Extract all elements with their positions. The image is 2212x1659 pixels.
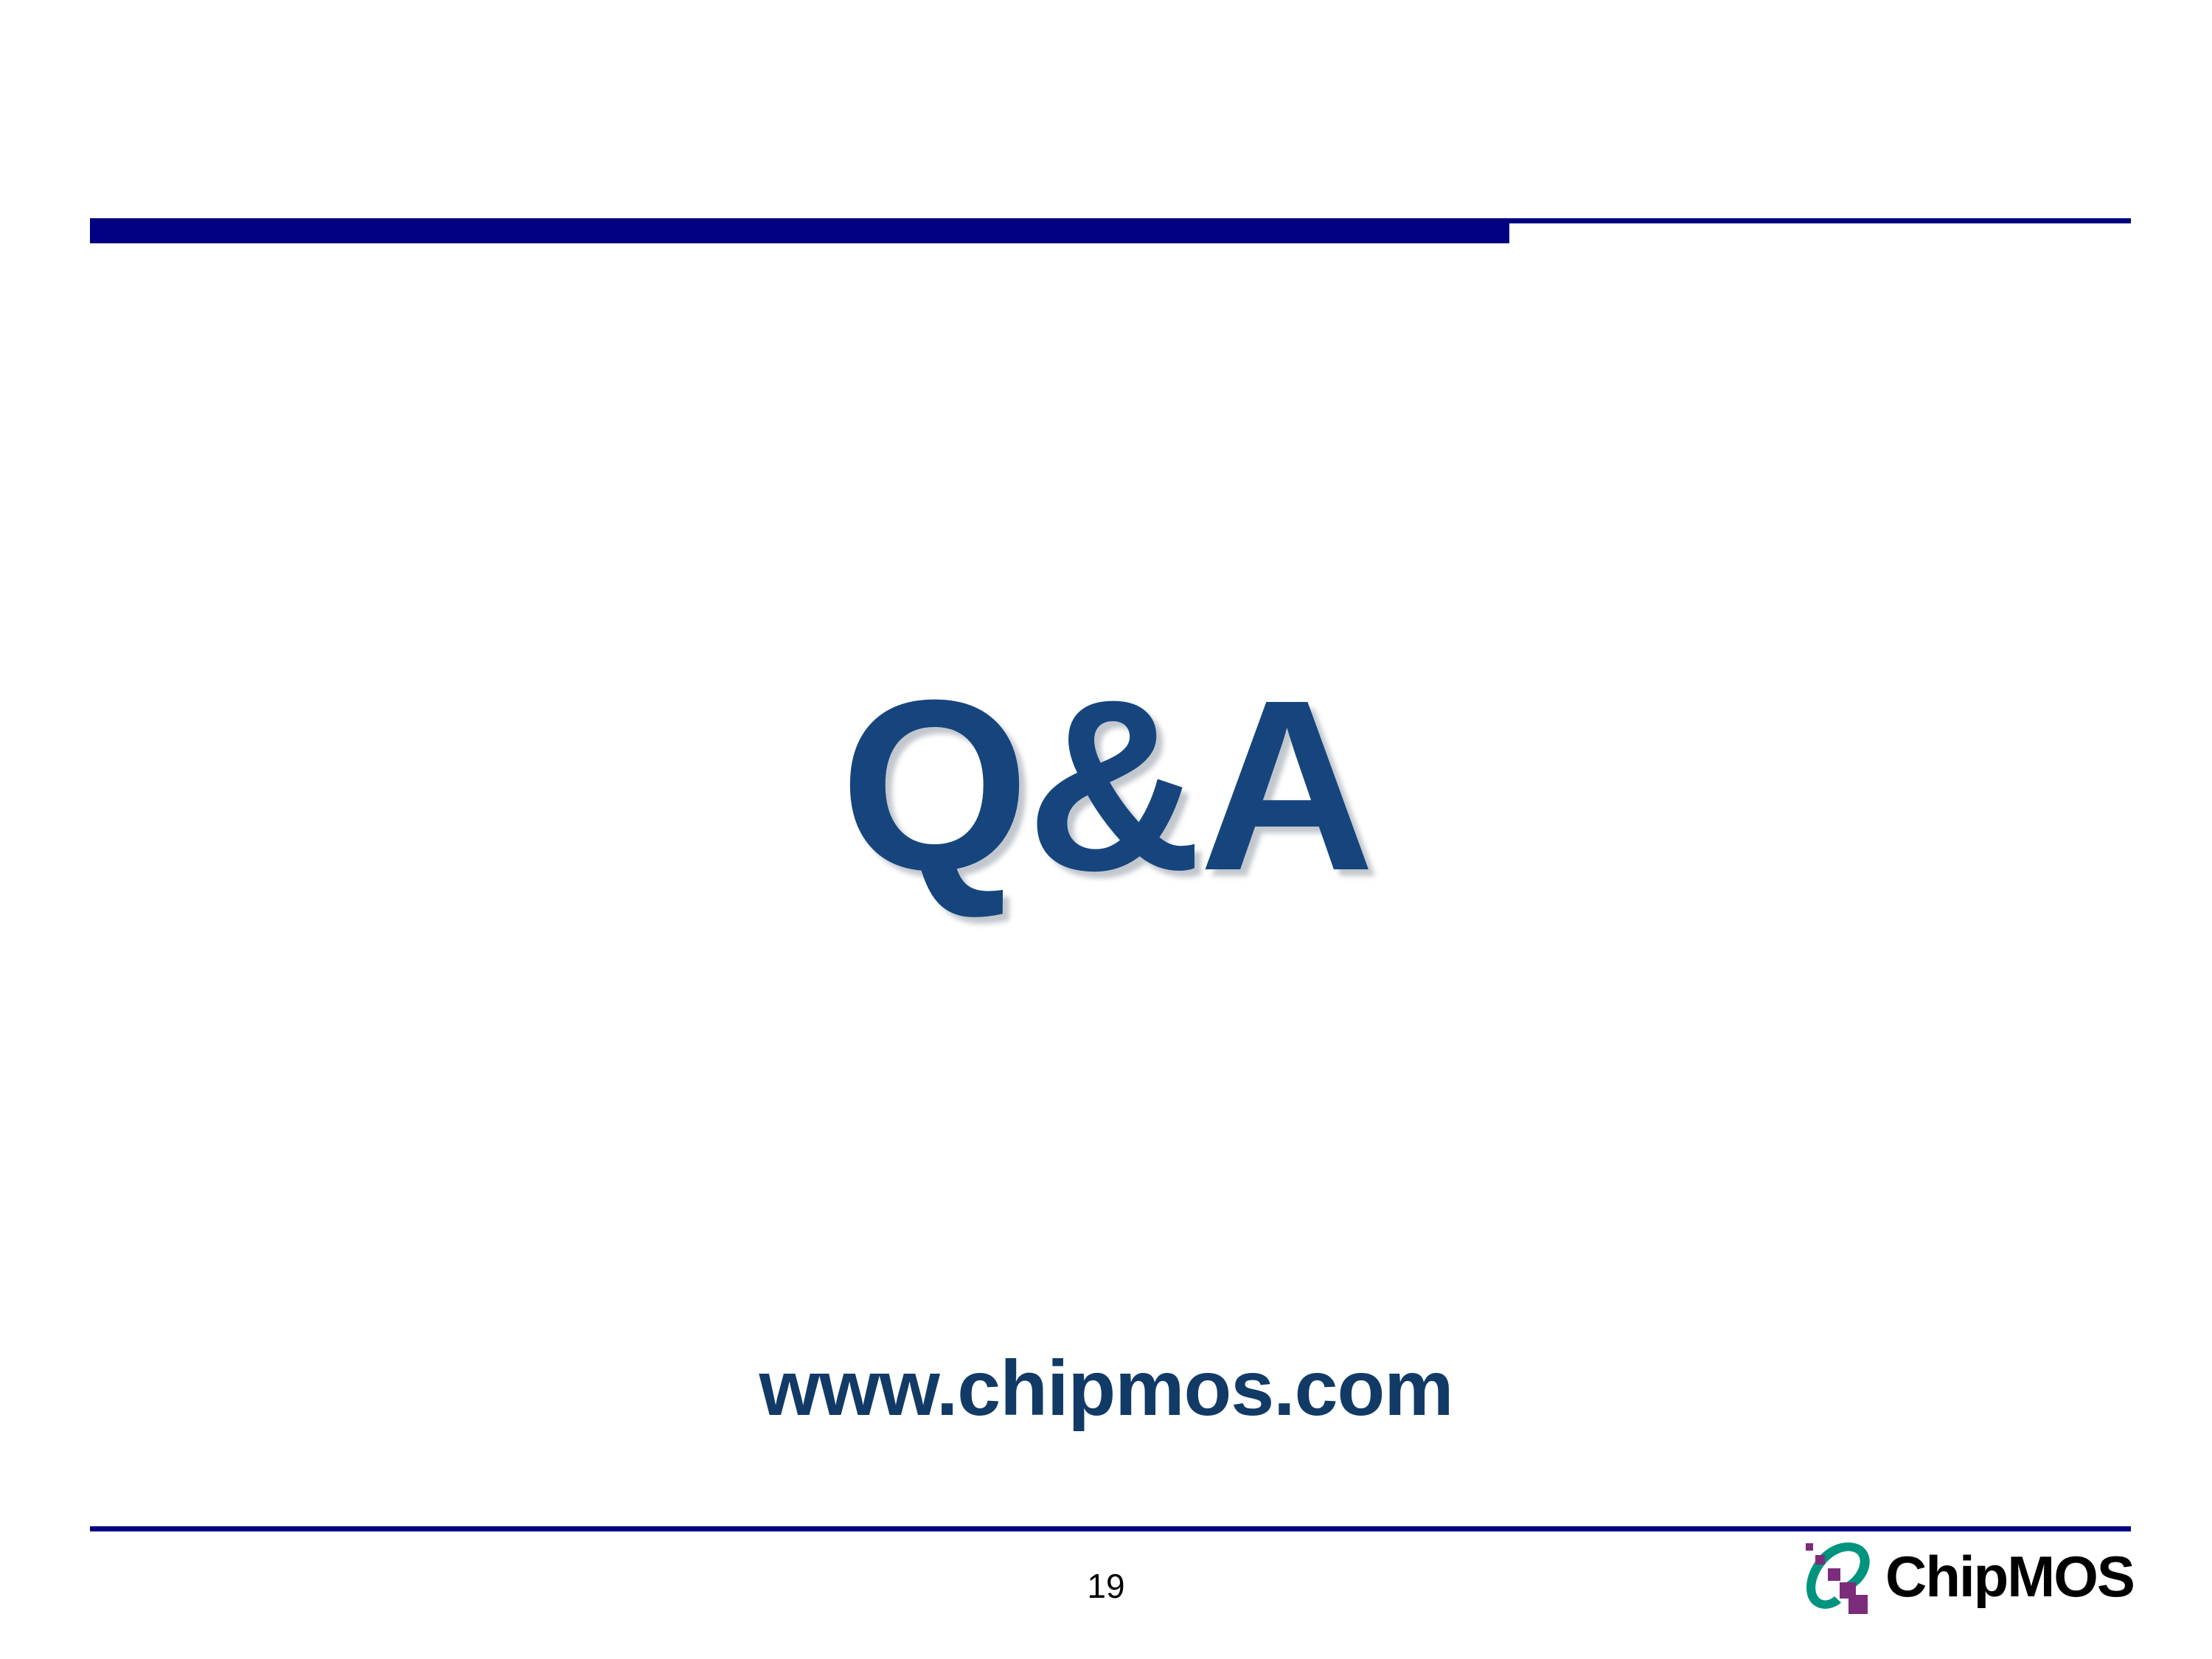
chipmos-logo: ChipMOS xyxy=(1801,1538,2133,1619)
qa-heading: Q&A xyxy=(0,664,2212,907)
header-bar xyxy=(90,218,1509,243)
chipmos-wordmark: ChipMOS xyxy=(1885,1548,2134,1605)
slide-body: Q&A www.chipmos.com xyxy=(0,243,2212,1519)
footer-rule xyxy=(90,1526,2131,1531)
website-url[interactable]: www.chipmos.com xyxy=(0,1349,2212,1427)
slide-canvas: Q&A www.chipmos.com 19 ChipMOS xyxy=(0,0,2212,1659)
chipmos-logo-mark-icon xyxy=(1801,1539,1881,1618)
